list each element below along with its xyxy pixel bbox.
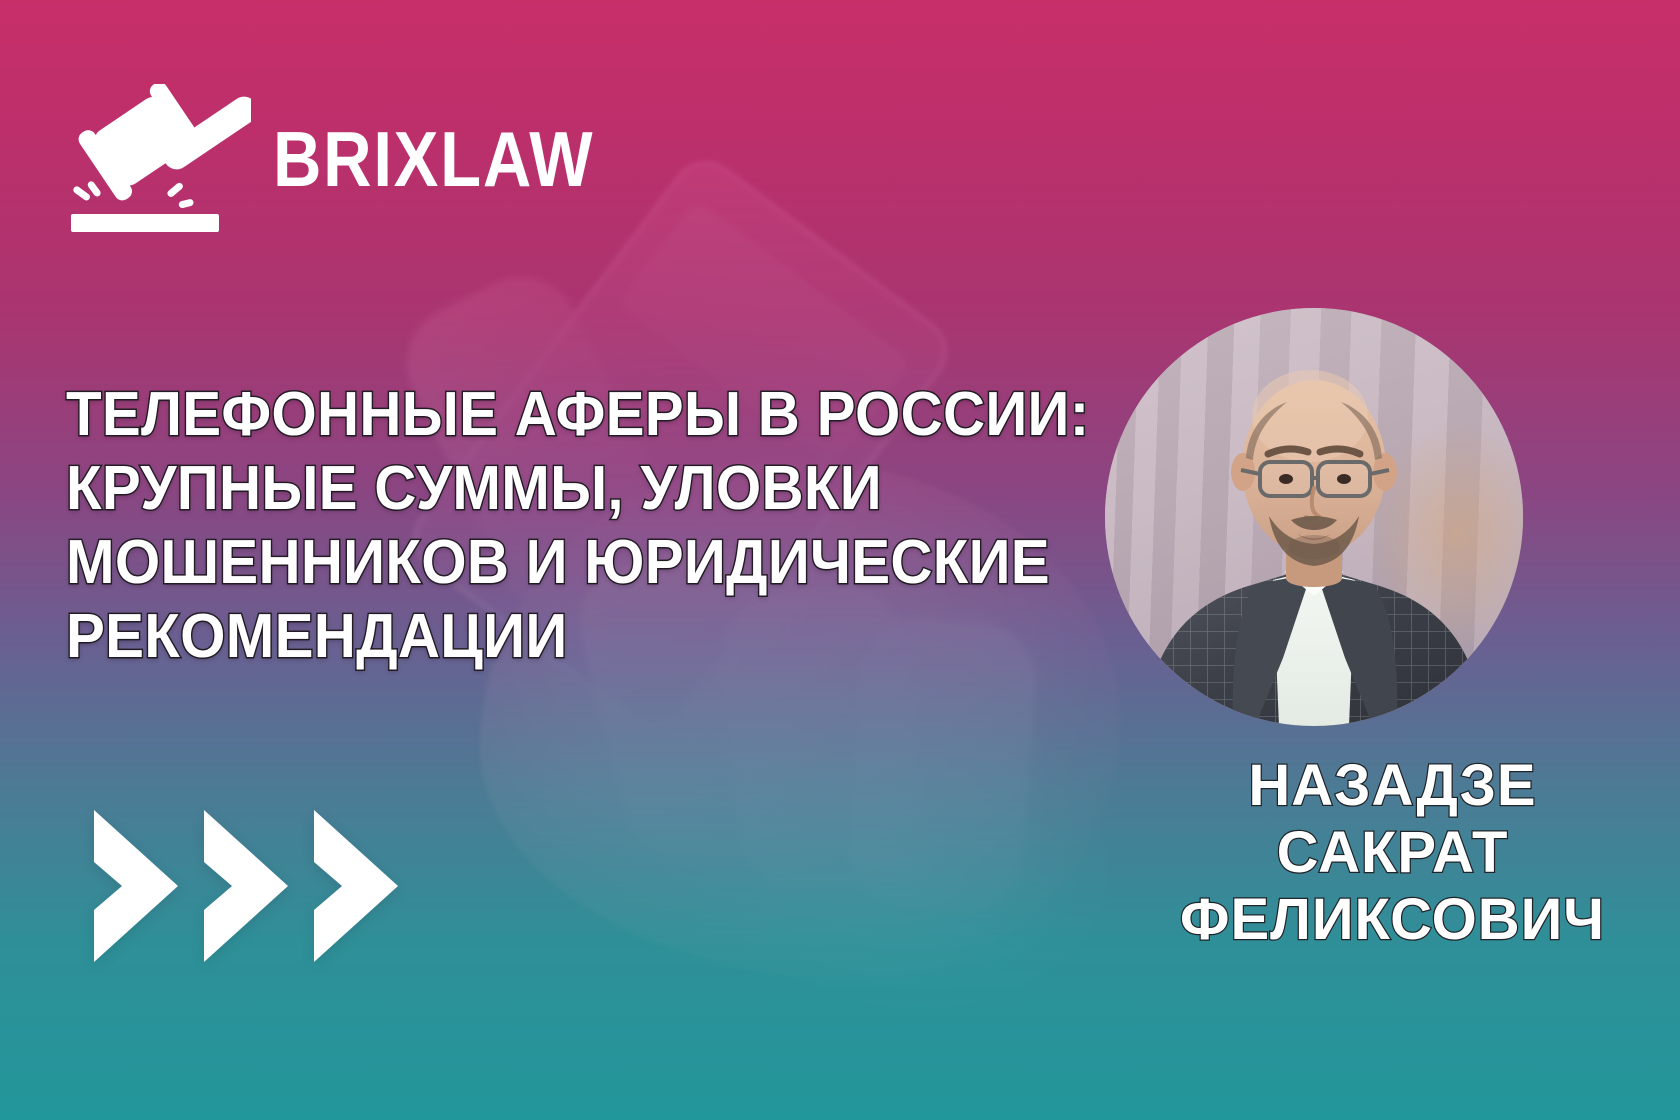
- speaker-name-line-3: ФЕЛИКСОВИЧ: [1120, 886, 1665, 953]
- title-line-2: КРУПНЫЕ СУММЫ, УЛОВКИ: [66, 452, 1034, 526]
- gavel-icon: [66, 84, 251, 234]
- speaker-name-line-2: САКРАТ: [1120, 819, 1665, 886]
- triple-chevron-right-icon: [86, 806, 402, 966]
- speaker-name: НАЗАДЗЕ САКРАТ ФЕЛИКСОВИЧ: [1120, 752, 1665, 953]
- portrait-person: [1105, 308, 1523, 726]
- speaker-name-line-1: НАЗАДЗЕ: [1120, 752, 1665, 819]
- poster-canvas: BRIXLAW ТЕЛЕФОННЫЕ АФЕРЫ В РОССИИ: КРУПН…: [0, 0, 1680, 1120]
- avatar: [1105, 308, 1523, 726]
- brand-lockup: BRIXLAW: [66, 84, 647, 234]
- title-line-1: ТЕЛЕФОННЫЕ АФЕРЫ В РОССИИ:: [66, 378, 1034, 452]
- chevron-right-icon-1: [86, 806, 182, 966]
- brand-name: BRIXLAW: [273, 120, 594, 198]
- chevron-right-icon-2: [196, 806, 292, 966]
- title-line-4: РЕКОМЕНДАЦИИ: [66, 600, 1034, 674]
- page-title: ТЕЛЕФОННЫЕ АФЕРЫ В РОССИИ: КРУПНЫЕ СУММЫ…: [66, 378, 1096, 674]
- chevron-right-icon-3: [306, 806, 402, 966]
- title-line-3: МОШЕННИКОВ И ЮРИДИЧЕСКИЕ: [66, 526, 1034, 600]
